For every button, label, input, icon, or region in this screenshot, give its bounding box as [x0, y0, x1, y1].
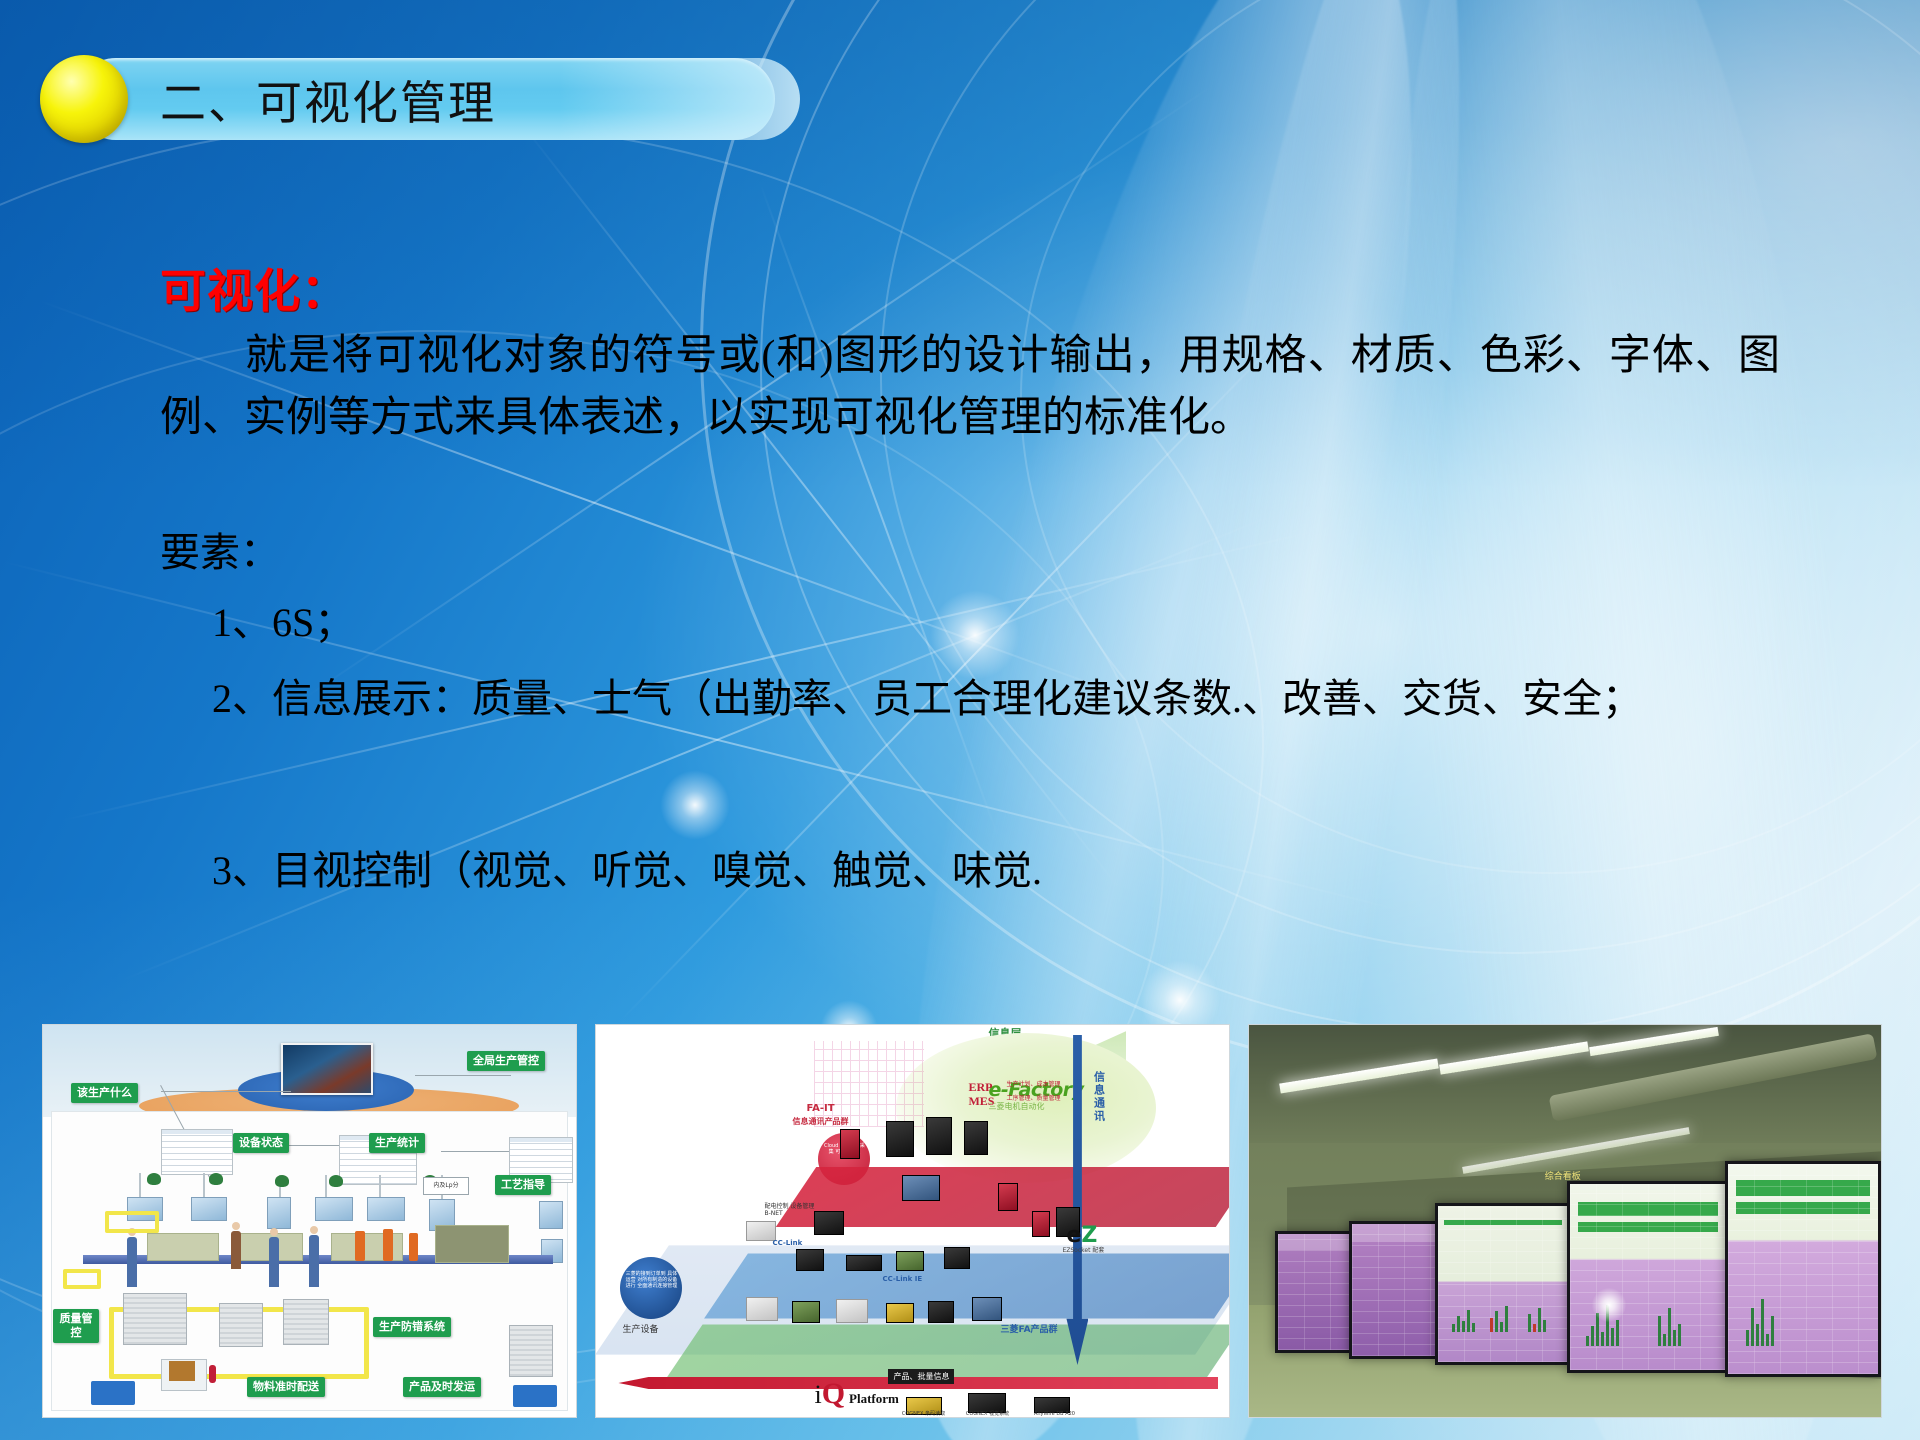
label-erp: ERP — [968, 1080, 992, 1094]
tag-what-to-produce: 该生产什么 — [71, 1083, 138, 1103]
photo-efactory-diagram: 信息层 e-Factory 三菱电机自动化 ERP MES 生产计划、成本管理 … — [595, 1024, 1229, 1418]
label-mitsubishi-fa: 三菱FA产品群 — [1000, 1325, 1057, 1336]
label-mes: MES — [968, 1094, 994, 1108]
label-production-equipment: 生产设备 — [622, 1325, 658, 1336]
label-blue-circle: 三菱的接到订单到 具体运营 对所有制造的设备进行 全面通讯连接管理 — [624, 1271, 678, 1289]
list-item: 2、信息展示：质量、士气（出勤率、员工合理化建议条数.、改善、交货、安全； — [160, 668, 1790, 730]
label-cognex-barcode: COGNEX 条码读取器 — [900, 1411, 946, 1418]
elements-label: 要素： — [160, 520, 280, 578]
photo-strip: 内及Lp分 — [42, 1024, 1882, 1418]
label-iq-platform: iQ Platform — [814, 1377, 898, 1411]
list-item-text: 1、6S； — [212, 600, 354, 645]
tag-ontime-shipment: 产品及时发运 — [403, 1377, 481, 1397]
label-anywire-db: AnyWire DB A20 series — [1028, 1411, 1080, 1418]
label-cc-link-ie: CC-Link IE — [882, 1275, 922, 1283]
yellow-ball-icon — [40, 55, 128, 143]
definition-text: 就是将可视化对象的符号或(和)图形的设计输出，用规格、材质、色彩、字体、图例、实… — [160, 333, 1780, 441]
list-item: 1、6S； — [160, 592, 1790, 654]
list-item-text: 3、目视控制（视觉、听觉、嗅觉、触觉、味觉. — [212, 848, 1042, 893]
tag-production-statistics: 生产统计 — [369, 1133, 425, 1153]
photo-control-room-video-wall: 综合看板 — [1248, 1024, 1882, 1418]
label-power-control: 配电控制 设备管理 B-NET — [764, 1203, 816, 1217]
label-info-communication: 信息通讯 — [1090, 1071, 1106, 1123]
tag-jit-material-delivery: 物料准时配送 — [247, 1377, 325, 1397]
video-wall-caption: 综合看板 — [1545, 1169, 1581, 1182]
label-erp-note-1: 生产计划、成本管理 — [1006, 1081, 1084, 1088]
slide-root: 二、可视化管理 可视化： 就是将可视化对象的符号或(和)图形的设计输出，用规格、… — [0, 0, 1920, 1440]
label-cc-link: CC-Link — [772, 1239, 802, 1247]
label-cognex-vision: COGNEX 视觉系统 — [964, 1411, 1010, 1417]
tag-error-proofing-system: 生产防错系统 — [373, 1317, 451, 1337]
label-ez-sub: EZSocket 配套 — [1062, 1247, 1104, 1254]
photo1-small-label: 内及Lp分 — [423, 1177, 469, 1195]
section-heading: 可视化： — [160, 255, 348, 321]
tag-process-guidance: 工艺指导 — [495, 1175, 551, 1195]
label-erp-note-2: 工序管理、质量管理 — [1006, 1095, 1084, 1102]
tag-global-production-control: 全局生产管控 — [467, 1051, 545, 1071]
label-fa-it: FA-IT — [806, 1103, 834, 1115]
photo-smart-factory-illustration: 内及Lp分 — [42, 1024, 577, 1418]
tag-quality-control: 质量管控 — [53, 1309, 99, 1343]
tag-equipment-status: 设备状态 — [233, 1133, 289, 1153]
label-erp-mes: ERP MES — [968, 1081, 994, 1109]
label-efactory-brand-sub: 三菱电机自动化 — [988, 1101, 1044, 1112]
label-fa-it-sub: 信息通讯产品群 — [792, 1117, 848, 1127]
definition-paragraph: 就是将可视化对象的符号或(和)图形的设计输出，用规格、材质、色彩、字体、图例、实… — [160, 325, 1780, 449]
page-title: 二、可视化管理 — [160, 62, 720, 138]
label-ez: eZ — [1066, 1223, 1097, 1248]
list-item: 3、目视控制（视觉、听觉、嗅觉、触觉、味觉. — [160, 840, 1790, 902]
list-item-text: 2、信息展示：质量、士气（出勤率、员工合理化建议条数.、改善、交货、安全； — [212, 676, 1642, 721]
